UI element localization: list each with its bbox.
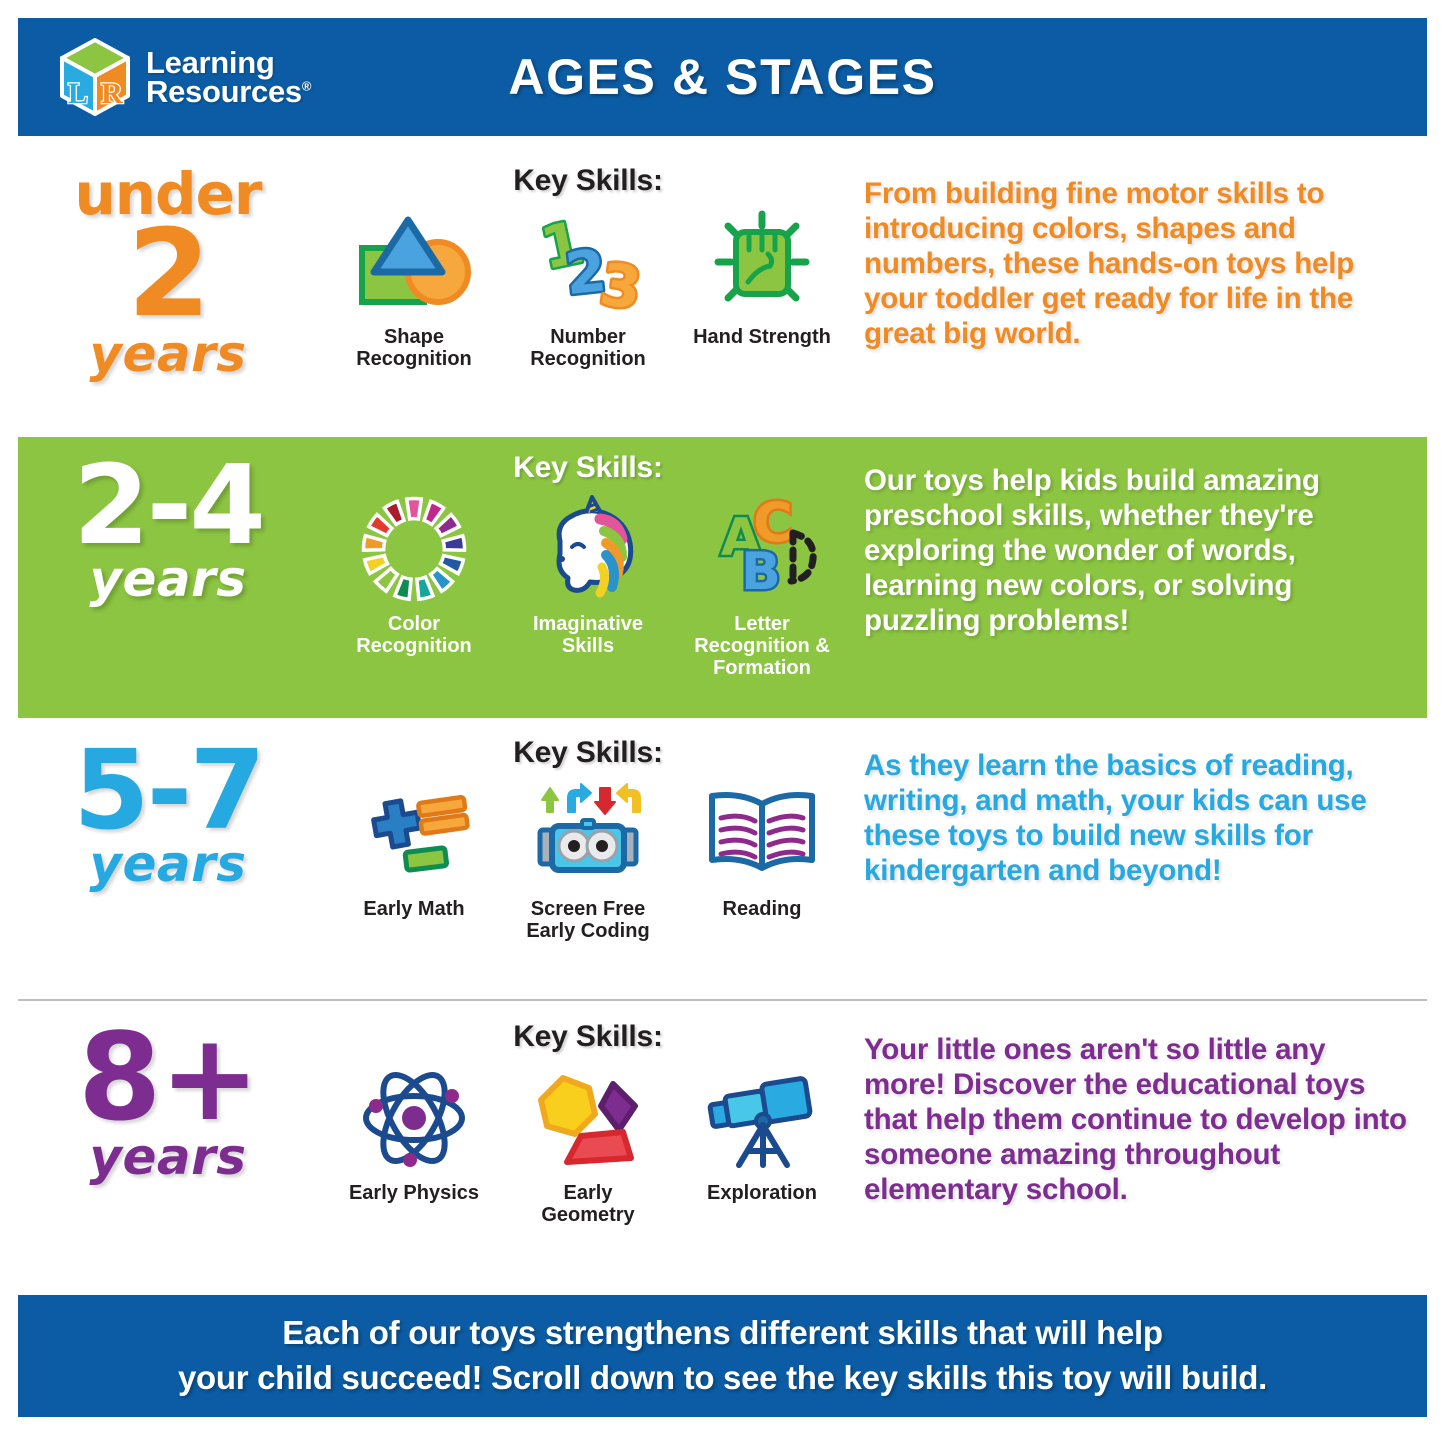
digit-3: 3 (596, 250, 645, 314)
section-description: Your little ones aren't so little any mo… (864, 1032, 1407, 1207)
age-label-2-4: 2-4 years (18, 437, 318, 604)
skills-group-8-plus: Key Skills: (318, 1006, 858, 1226)
age-unit: years (89, 1132, 246, 1182)
skill-early-physics: Early Physics (331, 1058, 497, 1204)
fist-strength-icon (704, 202, 820, 322)
age-unit: years (89, 839, 246, 889)
description-block-2-4: Our toys help kids build amazing prescho… (858, 437, 1427, 638)
skill-label: EarlyGeometry (541, 1182, 634, 1226)
color-wheel-icon (358, 489, 470, 609)
abc-letters-icon: A C B (699, 489, 825, 609)
skill-shape-recognition: ShapeRecognition (331, 202, 497, 370)
header-bar: L R Learning Resources® AGES & STAGES (18, 18, 1427, 136)
skill-label: Screen FreeEarly Coding (526, 898, 649, 942)
brand-wordmark: Learning Resources® (146, 48, 311, 107)
skill-color-recognition: ColorRecognition (331, 489, 497, 657)
skill-imaginative-skills: ImaginativeSkills (505, 489, 671, 657)
letter-b: B (741, 542, 781, 601)
brand-logo: L R Learning Resources® (58, 37, 311, 117)
age-unit: years (89, 329, 246, 379)
arrow-up (542, 788, 558, 812)
skill-exploration: Exploration (679, 1058, 845, 1204)
skills-group-5-7: Key Skills: (318, 722, 858, 942)
skill-label: LetterRecognition &Formation (694, 613, 830, 679)
cube-letter-l: L (68, 77, 88, 110)
key-skills-heading: Key Skills: (513, 1020, 663, 1054)
description-block-under-2: From building fine motor skills to intro… (858, 150, 1427, 351)
key-skills-heading: Key Skills: (513, 736, 663, 770)
skill-row: Early Math (331, 774, 845, 942)
age-section-2-4: 2-4 years Key Skills: (18, 437, 1427, 718)
skill-label: ImaginativeSkills (533, 613, 643, 657)
skill-label: NumberRecognition (530, 326, 646, 370)
age-section-under-2: under 2 years Key Skills: ShapeRecogniti… (18, 150, 1427, 435)
telescope-icon (699, 1058, 825, 1178)
section-divider (18, 999, 1427, 1001)
skill-hand-strength: Hand Strength (679, 202, 845, 348)
skills-group-2-4: Key Skills: (318, 437, 858, 679)
brand-line-2: Resources® (146, 77, 311, 106)
age-value: 8+ (78, 1024, 258, 1134)
age-label-8-plus: 8+ years (18, 1006, 318, 1182)
footer-line-2: your child succeed! Scroll down to see t… (178, 1356, 1267, 1401)
age-value: 2-4 (73, 455, 263, 556)
skill-label: Reading (723, 898, 802, 920)
skills-group-under-2: Key Skills: ShapeRecognition (318, 150, 858, 370)
footer-line-1: Each of our toys strengthens different s… (178, 1311, 1267, 1356)
age-value: 5-7 (73, 740, 263, 841)
unicorn-icon (526, 489, 650, 609)
skill-reading: Reading (679, 774, 845, 920)
footer-bar: Each of our toys strengthens different s… (18, 1295, 1427, 1417)
registered-mark: ® (302, 79, 311, 94)
skill-early-geometry: EarlyGeometry (505, 1058, 671, 1226)
section-description: Our toys help kids build amazing prescho… (864, 463, 1407, 638)
skill-number-recognition: 1 2 3 NumberRecognition (505, 202, 671, 370)
cube-letter-r: R (101, 77, 123, 110)
description-block-8-plus: Your little ones aren't so little any mo… (858, 1006, 1427, 1207)
arrow-down (595, 788, 615, 814)
cube-logo-icon: L R (58, 37, 132, 117)
key-skills-heading: Key Skills: (513, 451, 663, 485)
skill-label: Early Math (363, 898, 464, 920)
infographic-page: L R Learning Resources® AGES & STAGES un… (0, 0, 1445, 1445)
skill-row: ColorRecognition (331, 489, 845, 679)
skill-label: ColorRecognition (356, 613, 472, 657)
section-description: As they learn the basics of reading, wri… (864, 748, 1407, 888)
age-value: 2 (127, 220, 209, 330)
skill-label: Hand Strength (693, 326, 831, 348)
skill-screen-free-coding: Screen FreeEarly Coding (505, 774, 671, 942)
skill-label: Early Physics (349, 1182, 479, 1204)
geometry-shapes-icon (527, 1058, 649, 1178)
arrow-right-turn (568, 784, 591, 812)
age-label-under-2: under 2 years (18, 150, 318, 379)
age-unit: years (89, 554, 246, 604)
skill-label: ShapeRecognition (356, 326, 472, 370)
skill-row: ShapeRecognition 1 2 3 NumberRecognition (331, 202, 845, 370)
brand-line-1: Learning (146, 48, 311, 77)
skill-letter-recognition: A C B LetterRecognition &Formation (679, 489, 845, 679)
skill-row: Early Physics EarlyGeometry (331, 1058, 845, 1226)
age-section-8-plus: 8+ years Key Skills: (18, 1006, 1427, 1287)
age-label-5-7: 5-7 years (18, 722, 318, 889)
open-book-icon (703, 774, 821, 894)
description-block-5-7: As they learn the basics of reading, wri… (858, 722, 1427, 888)
arrow-left-turn (617, 784, 640, 812)
skill-early-math: Early Math (331, 774, 497, 920)
age-section-5-7: 5-7 years Key Skills: (18, 722, 1427, 1000)
skill-label: Exploration (707, 1182, 817, 1204)
key-skills-heading: Key Skills: (513, 164, 663, 198)
shapes-icon (356, 202, 472, 322)
math-symbols-icon (356, 774, 472, 894)
numbers-123-icon: 1 2 3 (530, 202, 646, 322)
atom-icon (357, 1058, 471, 1178)
footer-message: Each of our toys strengthens different s… (138, 1311, 1307, 1400)
coding-robot-icon (524, 774, 652, 894)
section-description: From building fine motor skills to intro… (864, 176, 1407, 351)
